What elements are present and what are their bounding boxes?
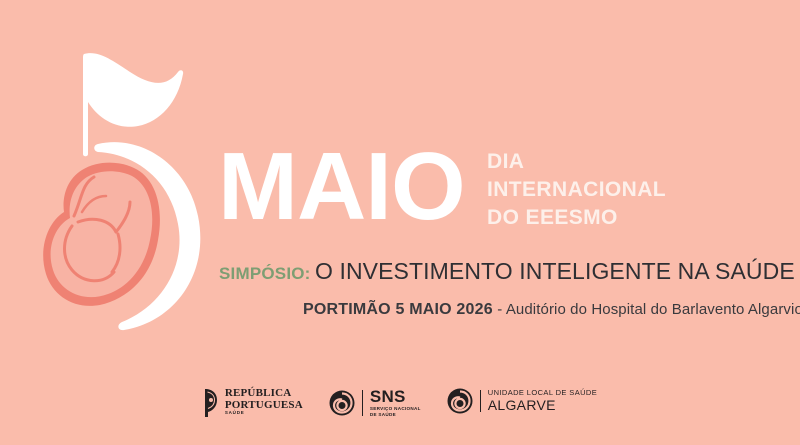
logo-uls-algarve: UNIDADE LOCAL DE SAÚDE ALGARVE [447, 388, 597, 414]
logo-republica-portuguesa: REPÚBLICA PORTUGUESA SAÚDE [203, 388, 303, 418]
symposium-theme: O INVESTIMENTO INTELIGENTE NA SAÚDE [315, 258, 795, 284]
event-subtitle: DIA INTERNACIONAL DO EEESMO [487, 148, 666, 232]
republica-line-1: REPÚBLICA [225, 388, 303, 400]
venue-place-date: PORTIMÃO 5 MAIO 2026 [303, 301, 493, 318]
sns-wordmark: SNS SERVIÇO NACIONAL DE SAÚDE [370, 388, 421, 418]
venue-line: PORTIMÃO 5 MAIO 2026 - Auditório do Hosp… [303, 300, 800, 320]
uls-swirl-icon [447, 388, 473, 414]
uls-wordmark: UNIDADE LOCAL DE SAÚDE ALGARVE [488, 389, 597, 413]
sns-acronym: SNS [370, 388, 421, 406]
symposium-line: SIMPÓSIO: O INVESTIMENTO INTELIGENTE NA … [219, 258, 795, 288]
republica-portuguesa-shield-icon [203, 388, 219, 418]
republica-portuguesa-wordmark: REPÚBLICA PORTUGUESA SAÚDE [225, 388, 303, 416]
sns-sub-line-1: SERVIÇO NACIONAL [370, 406, 421, 412]
subtitle-line-3: DO EEESMO [487, 204, 666, 232]
subtitle-line-1: DIA [487, 148, 666, 176]
republica-sublabel: SAÚDE [225, 411, 303, 416]
uls-top-line: UNIDADE LOCAL DE SAÚDE [488, 389, 597, 397]
symposium-label: SIMPÓSIO: [219, 264, 311, 283]
hero-artwork [38, 26, 248, 336]
sns-divider [362, 390, 363, 416]
fetus-illustration-icon [43, 163, 160, 306]
event-poster: MAIO DIA INTERNACIONAL DO EEESMO SIMPÓSI… [0, 0, 800, 445]
logo-strip: REPÚBLICA PORTUGUESA SAÚDE SNS SERVIÇO N… [0, 388, 800, 418]
logo-sns: SNS SERVIÇO NACIONAL DE SAÚDE [329, 388, 421, 418]
uls-divider [480, 390, 481, 412]
subtitle-line-2: INTERNACIONAL [487, 176, 666, 204]
uls-region: ALGARVE [488, 398, 597, 413]
sns-swirl-icon [329, 390, 355, 416]
sns-sub-line-2: DE SAÚDE [370, 412, 421, 418]
venue-detail: - Auditório do Hospital do Barlavento Al… [497, 301, 800, 318]
page-title: MAIO [218, 139, 465, 235]
